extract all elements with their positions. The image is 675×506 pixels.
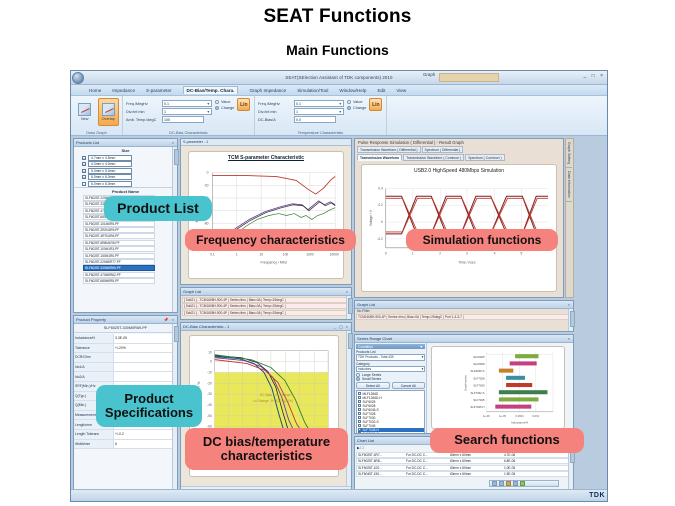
svg-text:-30: -30 — [207, 392, 212, 396]
list-item[interactable]: SLF6025T-4R7N1R6-PF — [83, 233, 155, 239]
collapse-icon[interactable]: - — [82, 182, 86, 186]
checkbox[interactable] — [358, 400, 362, 404]
right-vertical-tabs: Graph Setting Data Information — [565, 138, 574, 298]
list-item[interactable]: SLF6025T-220M0R77-PF — [83, 259, 155, 265]
ribbon-group-label-temperature: Temperature Characteristic — [255, 131, 386, 135]
ribbon-group-temperature: Freq./MegHz 0.1▼ Div./inf.min 1▼ DC-Bias… — [255, 96, 387, 135]
category-select[interactable]: Inductors ▼ — [356, 366, 425, 373]
property-key: Tolerance — [74, 344, 114, 353]
products-list-select[interactable]: TDK Products - Total 439 ▼ — [356, 354, 425, 361]
list-item[interactable]: SLF6025T-150M1R0-PF — [83, 253, 155, 259]
dc-div-input[interactable]: 1▼ — [162, 108, 212, 115]
cell-inductance: 4.7E-06 — [504, 453, 515, 457]
products-list-close-icon[interactable]: × — [172, 140, 175, 145]
svg-text:SLF6045-S: SLF6045-S — [471, 369, 485, 373]
list-item[interactable]: SLF7050-S — [358, 432, 424, 434]
checkbox[interactable] — [358, 392, 362, 396]
cell-inductance: 1.5E-05 — [504, 472, 515, 476]
checkbox[interactable] — [358, 416, 362, 420]
temp-radio-value[interactable] — [347, 100, 351, 104]
svg-text:1e-06: 1e-06 — [483, 414, 490, 418]
graph-context-label: Graph — [423, 72, 435, 77]
overlap-graph-label: Overlap — [102, 117, 115, 121]
cell-product: SLF6025T-100... — [358, 466, 402, 470]
property-value: +/-20% — [114, 344, 172, 353]
checkbox[interactable] — [358, 428, 362, 432]
menu-item-simulation-tool[interactable]: Simulation/Tool — [297, 88, 328, 93]
callout-dc-bias-temperature: DC bias/temperature characteristics — [185, 428, 348, 470]
svg-text:Voltage / V: Voltage / V — [369, 209, 373, 226]
table-row[interactable]: TCM1608H-900-4P | Series=thru | Bias=0A … — [356, 314, 572, 320]
temp-div-label: Div./inf.min — [258, 110, 292, 114]
s-parameter-chart: 0 -20 -40 -60 -80 -100 -120 0.1 1 10 100… — [189, 163, 343, 269]
checkbox[interactable] — [358, 424, 362, 428]
property-key: Idc1/A — [74, 363, 114, 372]
property-value — [114, 363, 172, 372]
graph-list-close-icon[interactable]: × — [346, 289, 349, 294]
simulation-graph-list-scrollbar[interactable] — [568, 309, 573, 331]
svg-text:0: 0 — [207, 171, 209, 175]
small-series-radio-row[interactable]: Small Series — [356, 377, 425, 381]
table-row: Idc1/A — [74, 363, 172, 373]
cell-description: For DC-DC C... — [406, 466, 446, 470]
products-list-scrollbar[interactable] — [172, 147, 177, 312]
svg-text:SLF7045-H: SLF7045-H — [470, 405, 484, 409]
simulation-panel: Pulse Response Simulation ( Differential… — [354, 138, 564, 298]
dc-radio-value-label: Value — [221, 100, 230, 104]
list-item[interactable]: SLF6025T-101M0R5-PF — [83, 221, 155, 227]
selected-product-name: SLF6025T-330M0R69-PF — [74, 324, 177, 333]
series-checkbox-list[interactable]: MLF1266D MLF1266D-H SLF6025 SLF6028 SLF6… — [356, 390, 425, 433]
table-row: DCR/Ohm — [74, 353, 172, 363]
menu-item-edit[interactable]: Edit — [377, 88, 385, 93]
new-graph-button[interactable]: New — [74, 98, 96, 126]
list-item[interactable]: SLF6025T-6R8M1R5-PF — [83, 240, 155, 246]
svg-text:-80: -80 — [204, 221, 209, 225]
svg-text:2: 2 — [439, 252, 441, 256]
menu-item-view[interactable]: View — [396, 88, 406, 93]
status-bar: TDK — [71, 489, 608, 501]
callout-search-functions: Search functions — [430, 428, 584, 453]
series-range-chart-card: SLF6025 SLF6028 SLF6045-S SLF7028 SLF703… — [431, 346, 565, 429]
cell-description: For DC-DC C... — [406, 459, 446, 463]
svg-text:1: 1 — [412, 252, 414, 256]
vtab-graph-setting[interactable]: Graph Setting — [566, 139, 572, 168]
window-titlebar: SEAT(SElection Assistant of TDK componen… — [71, 71, 607, 85]
svg-text:Frequency / MHz: Frequency / MHz — [260, 260, 287, 264]
ribbon-group-label-dc-bias: DC-Bias Characteristic — [123, 131, 254, 135]
product-property-title: Product Property — [76, 317, 106, 322]
svg-text:10: 10 — [208, 351, 212, 355]
svg-text:1000: 1000 — [306, 252, 314, 256]
series-range-title: Series Range Chart — [357, 336, 392, 341]
svg-text:Lo Change -% -E20%(20%): Lo Change -% -E20%(20%) — [253, 399, 293, 403]
table-row[interactable]: SLF6025T-6R8... For DC-DC C... 60mm x 60… — [356, 458, 572, 464]
svg-text:0: 0 — [381, 220, 383, 224]
temp-lin-button[interactable]: Lin — [369, 98, 382, 111]
window-controls[interactable]: _ □ × — [584, 73, 606, 79]
small-series-label: Small Series — [362, 377, 381, 381]
svg-text:Time / nsec: Time / nsec — [458, 261, 476, 265]
simulation-chart-title: USB2.0 HighSpeed 480Mbps Simulation — [362, 165, 556, 174]
svg-text:10: 10 — [259, 252, 263, 256]
cell-description: For DC-DC C... — [406, 453, 446, 457]
graph-list-scrollbar[interactable] — [346, 296, 351, 319]
series-range-chart: SLF6025 SLF6028 SLF6045-S SLF7028 SLF703… — [432, 347, 564, 428]
callout-frequency-characteristics: Frequency characteristics — [185, 229, 356, 251]
svg-text:0: 0 — [385, 252, 387, 256]
table-row: Tolerance+/-20% — [74, 344, 172, 354]
checkbox[interactable] — [358, 420, 362, 424]
menu-item-graph-impedance[interactable]: Graph Impedance — [249, 88, 286, 93]
simulation-tabs-row2: Transmission Waveform Transmission Wavef… — [355, 154, 563, 161]
size-row[interactable]: +4.7mm x 4.5mm — [74, 155, 177, 161]
cell-description: For DC-DC C... — [406, 472, 446, 476]
size-row[interactable]: +4.0mm x 4.0mm — [74, 161, 177, 167]
svg-text:-40: -40 — [207, 403, 212, 407]
s-parameter-tabbar: S-parameter - 1 — [181, 139, 351, 146]
svg-text:-20: -20 — [207, 381, 212, 385]
list-item-selected[interactable]: SLF6025T-330M0R69-PF — [83, 265, 155, 271]
temp-freq-label: Freq./MegHz — [258, 102, 292, 106]
simulation-graph-list-panel: Graph List × No Filter TCM1608H-900-4P |… — [354, 300, 574, 332]
svg-text:0: 0 — [210, 360, 212, 364]
chart-list-mini-toolbar[interactable] — [489, 480, 559, 487]
menu-bar: Home Impedance S-parameter DC-Bias/Temp.… — [71, 85, 607, 96]
svg-text:DC-Bias L-% Change-1: DC-Bias L-% Change-1 — [260, 393, 294, 397]
svg-text:SLF7030: SLF7030 — [473, 384, 485, 388]
dc-bias-header: DC-Bias Characteristic - 1 _ ◻ × — [181, 323, 351, 331]
dc-temp-input[interactable]: 105 — [162, 116, 204, 123]
size-value: 6.0mm x 6.0mm — [88, 181, 132, 187]
product-property-header: Product Property 📌 × — [74, 316, 177, 324]
dc-radio-value[interactable] — [215, 100, 219, 104]
property-value: +/-0.2 — [114, 430, 172, 439]
cancel-all-button[interactable]: Cancel All — [392, 382, 426, 389]
list-item[interactable]: SLF6025T-100M1R3-PF — [83, 246, 155, 252]
svg-text:0.4: 0.4 — [378, 186, 383, 190]
products-list-title: Products List — [76, 140, 99, 145]
graph-tab-highlight — [439, 73, 499, 82]
menu-item-impedance[interactable]: Impedance — [112, 88, 135, 93]
svg-text:SLF7028: SLF7028 — [473, 376, 485, 380]
category-value: Inductors — [358, 367, 371, 371]
graph-list-body: [ Sdd21 ] - TCM1608H-900-4P | Series=thr… — [181, 296, 351, 319]
temp-bias-input[interactable]: 0.0 — [294, 116, 336, 123]
svg-text:Inductance/H: Inductance/H — [511, 421, 528, 425]
simulation-title: Pulse Response Simulation ( Differential… — [355, 139, 563, 146]
svg-text:SLF7045: SLF7045 — [473, 398, 485, 402]
cell-inductance: 1.0E-05 — [504, 466, 515, 470]
svg-text:SLF6025: SLF6025 — [473, 355, 485, 359]
svg-text:1e-05: 1e-05 — [499, 414, 506, 418]
chevron-down-icon[interactable]: ▼ — [419, 345, 423, 349]
table-row[interactable]: SLF6025T-100... For DC-DC C... 60mm x 60… — [356, 465, 572, 471]
size-row[interactable]: +6.0mm x 6.0mm — [74, 174, 177, 180]
property-value — [114, 353, 172, 362]
temp-radio-change[interactable] — [347, 106, 351, 110]
simulation-chart-card: USB2.0 HighSpeed 480Mbps Simulation — [361, 164, 557, 292]
search-condition-panel: Condition ▼ Products List TDK Products -… — [355, 343, 427, 433]
table-row: Width/mm6 — [74, 440, 172, 450]
svg-text:10000: 10000 — [330, 252, 339, 256]
cell-size: 60mm x 60mm — [450, 453, 500, 457]
size-value: 5.0mm x 5.0mm — [88, 168, 132, 174]
svg-text:Small series: Small series — [464, 375, 468, 391]
products-list-value: TDK Products - Total 439 — [358, 355, 394, 359]
overlap-graph-icon — [102, 103, 115, 116]
expand-icon[interactable]: + — [82, 175, 86, 179]
svg-text:-0.2: -0.2 — [377, 237, 383, 241]
cell-size: 60mm x 60mm — [450, 466, 500, 470]
cell-size: 60mm x 60mm — [450, 459, 500, 463]
dc-bias-window-controls[interactable]: _ ◻ × — [334, 324, 349, 329]
new-graph-icon — [78, 103, 91, 116]
dc-bias-title: DC-Bias Characteristic - 1 — [183, 324, 229, 329]
dc-freq-input[interactable]: 0.1▼ — [162, 100, 212, 107]
graph-list-header: Graph List × — [181, 288, 351, 296]
page-title: SEAT Functions — [0, 6, 675, 28]
dc-radio-change[interactable] — [215, 106, 219, 110]
tab-transmission-waveform[interactable]: Transmission Waveform — [357, 154, 402, 161]
svg-text:5: 5 — [520, 252, 522, 256]
table-row: Length Toleranc+/-0.2 — [74, 430, 172, 440]
chart-list-title: Chart List — [357, 438, 374, 443]
expand-icon[interactable]: + — [82, 169, 86, 173]
property-key: Length Toleranc — [74, 430, 114, 439]
dc-radio-change-label: Change — [221, 106, 234, 110]
series-range-header: Series Range Chart × — [355, 335, 573, 343]
checkbox[interactable] — [358, 396, 362, 400]
graph-list-panel: Graph List × [ Sdd21 ] - TCM1608H-900-4P… — [180, 287, 352, 320]
ribbon-group-dc-bias: Freq./MegHz 0.1▼ Div./inf.min 1▼ Amb. Te… — [123, 96, 255, 135]
property-value — [114, 372, 172, 381]
checkbox[interactable] — [358, 408, 362, 412]
vtab-data-information[interactable]: Data Information — [566, 168, 572, 202]
simulation-tabs-row1: Transmission Waveform ( Differential ) S… — [355, 146, 563, 153]
product-name-column-header: Product Name — [74, 187, 177, 195]
temp-radio-value-label: Value — [353, 100, 362, 104]
simulation-graph-list-title: Graph List — [357, 302, 375, 307]
overlap-graph-button[interactable]: Overlap — [98, 98, 120, 126]
svg-text:SLF7032-S: SLF7032-S — [471, 391, 485, 395]
select-all-button[interactable]: Select All — [356, 382, 390, 389]
size-column-header: Size — [74, 147, 177, 154]
s-parameter-chart-title: TCM S-parameter Characteristic — [189, 152, 343, 161]
property-value: 6 — [114, 440, 172, 449]
cell-product: SLF6025T-6R8... — [358, 459, 402, 463]
temp-div-input[interactable]: 1▼ — [294, 108, 344, 115]
svg-text:SLF6028: SLF6028 — [473, 362, 485, 366]
toolbar-icon[interactable] — [492, 481, 497, 486]
svg-text:-10: -10 — [207, 370, 212, 374]
table-row: Idc2/A — [74, 372, 172, 382]
chevron-down-icon[interactable]: ▼ — [421, 367, 424, 371]
property-value: 3.3E-05 — [114, 334, 172, 343]
simulation-graph-list-close-icon[interactable]: × — [568, 302, 571, 307]
svg-text:3: 3 — [466, 252, 468, 256]
svg-text:100: 100 — [283, 252, 289, 256]
cell-product: SLF6045T-150... — [358, 472, 402, 476]
cell-size: 60mm x 60mm — [450, 472, 500, 476]
dc-div-label: Div./inf.min — [126, 110, 160, 114]
table-row: Inductance/H3.3E-05 — [74, 334, 172, 344]
property-key: Width/mm — [74, 440, 114, 449]
tdk-logo: TDK — [589, 492, 605, 499]
property-key: DCR/Ohm — [74, 353, 114, 362]
tab-transmission-waveform-common[interactable]: Transmission Waveform ( Common ) — [403, 154, 464, 161]
simulation-graph-list-header: Graph List × — [355, 301, 573, 309]
select-buttons-row: Select All Cancel All — [356, 382, 425, 389]
temp-radio-change-label: Change — [353, 106, 366, 110]
size-row[interactable]: +5.0mm x 5.0mm — [74, 168, 177, 174]
series-range-body: Condition ▼ Products List TDK Products -… — [355, 343, 573, 433]
svg-text:0.001: 0.001 — [532, 414, 539, 418]
menu-item-dc-bias-temp-chara[interactable]: DC-Bias/Temp. Chara. — [183, 86, 239, 94]
table-row[interactable]: SLF6045T-150... For DC-DC C... 60mm x 60… — [356, 471, 572, 477]
svg-text:-20: -20 — [204, 183, 209, 187]
menu-item-s-parameter[interactable]: S-parameter — [146, 88, 172, 93]
svg-text:0.1: 0.1 — [210, 252, 215, 256]
expand-icon[interactable]: + — [82, 156, 86, 160]
condition-header: Condition ▼ — [356, 344, 425, 349]
window-title: SEAT(SElection Assistant of TDK componen… — [71, 75, 607, 80]
table-row[interactable]: [ Sdd21 ] - TCM1608H-900-4P | Series=thr… — [182, 303, 350, 309]
toolbar-icon[interactable] — [499, 481, 504, 486]
tab-spectrum-differential[interactable]: Spectrum ( Differential ) — [422, 146, 464, 153]
series-range-chart-panel: Series Range Chart × Condition ▼ Product… — [354, 334, 574, 434]
menu-item-home[interactable]: Home — [89, 88, 101, 93]
products-list-header: Products List × — [74, 139, 177, 147]
table-row[interactable]: [ Sdd21 ] - TCM1608H-900-4P | Series=thr… — [182, 297, 350, 303]
size-row[interactable]: -6.0mm x 6.0mm — [74, 181, 177, 187]
menu-item-window-help[interactable]: Window/Help — [339, 88, 366, 93]
no-filter-label: No Filter — [355, 309, 573, 313]
simulation-graph-list-body: No Filter TCM1608H-900-4P | Series=thru … — [355, 309, 573, 331]
checkbox[interactable] — [358, 412, 362, 416]
callout-product-list: Product List — [104, 196, 212, 221]
property-key: Inductance/H — [74, 334, 114, 343]
property-key: Idc2/A — [74, 372, 114, 381]
toolbar-icon[interactable] — [506, 481, 511, 486]
dc-freq-label: Freq./MegHz — [126, 102, 160, 106]
size-value: 4.0mm x 4.0mm — [88, 161, 132, 167]
products-list-body: Size +4.7mm x 4.5mm +4.0mm x 4.0mm +5.0m… — [74, 147, 177, 312]
product-property-close-icon[interactable]: 📌 × — [164, 317, 175, 322]
list-item[interactable]: SLF6025T-2R2N1R9-PF — [83, 227, 155, 233]
new-graph-label: New — [81, 117, 89, 121]
table-row[interactable]: [ Sdd21 ] - TCM1608H-900-4P | Series=thr… — [182, 310, 350, 316]
list-item[interactable]: SLF6025T-470M0R62-PF — [83, 272, 155, 278]
svg-text:4: 4 — [494, 252, 496, 256]
list-item[interactable]: SLF6025T-680M0R5-PF — [83, 278, 155, 284]
dc-temp-label: Amb. Temp./degC — [126, 118, 160, 122]
eye-diagram-chart: 0.4 0.2 0 -0.2 0 1 2 3 4 5 Time / nsec V… — [362, 176, 556, 276]
condition-title: Condition — [358, 345, 373, 349]
svg-text:0.0001: 0.0001 — [515, 414, 524, 418]
cell-product: SLF6025T-4R7... — [358, 453, 402, 457]
graph-list-title: Graph List — [183, 289, 201, 294]
cell-inductance: 6.8E-06 — [504, 459, 515, 463]
tab-spectrum-common[interactable]: Spectrum ( Common ) — [465, 154, 504, 161]
dc-lin-button[interactable]: Lin — [237, 98, 250, 111]
callout-product-specifications: Product Specifications — [96, 385, 202, 427]
temp-freq-input[interactable]: 0.1▼ — [294, 100, 344, 107]
svg-text:0.2: 0.2 — [378, 203, 383, 207]
checkbox[interactable] — [358, 432, 362, 433]
toolbar-icon[interactable] — [513, 481, 518, 486]
callout-simulation-functions: Simulation functions — [406, 229, 558, 251]
svg-text:1: 1 — [236, 252, 238, 256]
toolbar-icon[interactable] — [520, 481, 525, 486]
svg-text:-50: -50 — [207, 414, 212, 418]
tab-s-parameter-1[interactable]: S-parameter - 1 — [183, 140, 208, 144]
ribbon-group-label-draw-graph: Draw Graph — [71, 131, 122, 135]
small-series-radio[interactable] — [356, 377, 360, 381]
temp-bias-label: DC-Bias/A — [258, 118, 292, 122]
tab-transmission-waveform-differential[interactable]: Transmission Waveform ( Differential ) — [357, 146, 421, 153]
chevron-down-icon[interactable]: ▼ — [421, 355, 424, 359]
size-value: 6.0mm x 6.0mm — [88, 174, 132, 180]
ribbon-group-draw-graph: New Overlap Draw Graph — [71, 96, 123, 135]
products-list-panel: Products List × Size +4.7mm x 4.5mm +4.0… — [73, 138, 178, 313]
checkbox[interactable] — [358, 404, 362, 408]
series-range-close-icon[interactable]: × — [568, 336, 571, 341]
dc-bias-scrollbar[interactable] — [346, 331, 351, 491]
ribbon-toolbar: New Overlap Draw Graph Freq./MegHz 0.1▼ … — [71, 96, 607, 136]
expand-icon[interactable]: + — [82, 162, 86, 166]
size-value: 4.7mm x 4.5mm — [88, 155, 132, 161]
page-subtitle: Main Functions — [0, 42, 675, 58]
